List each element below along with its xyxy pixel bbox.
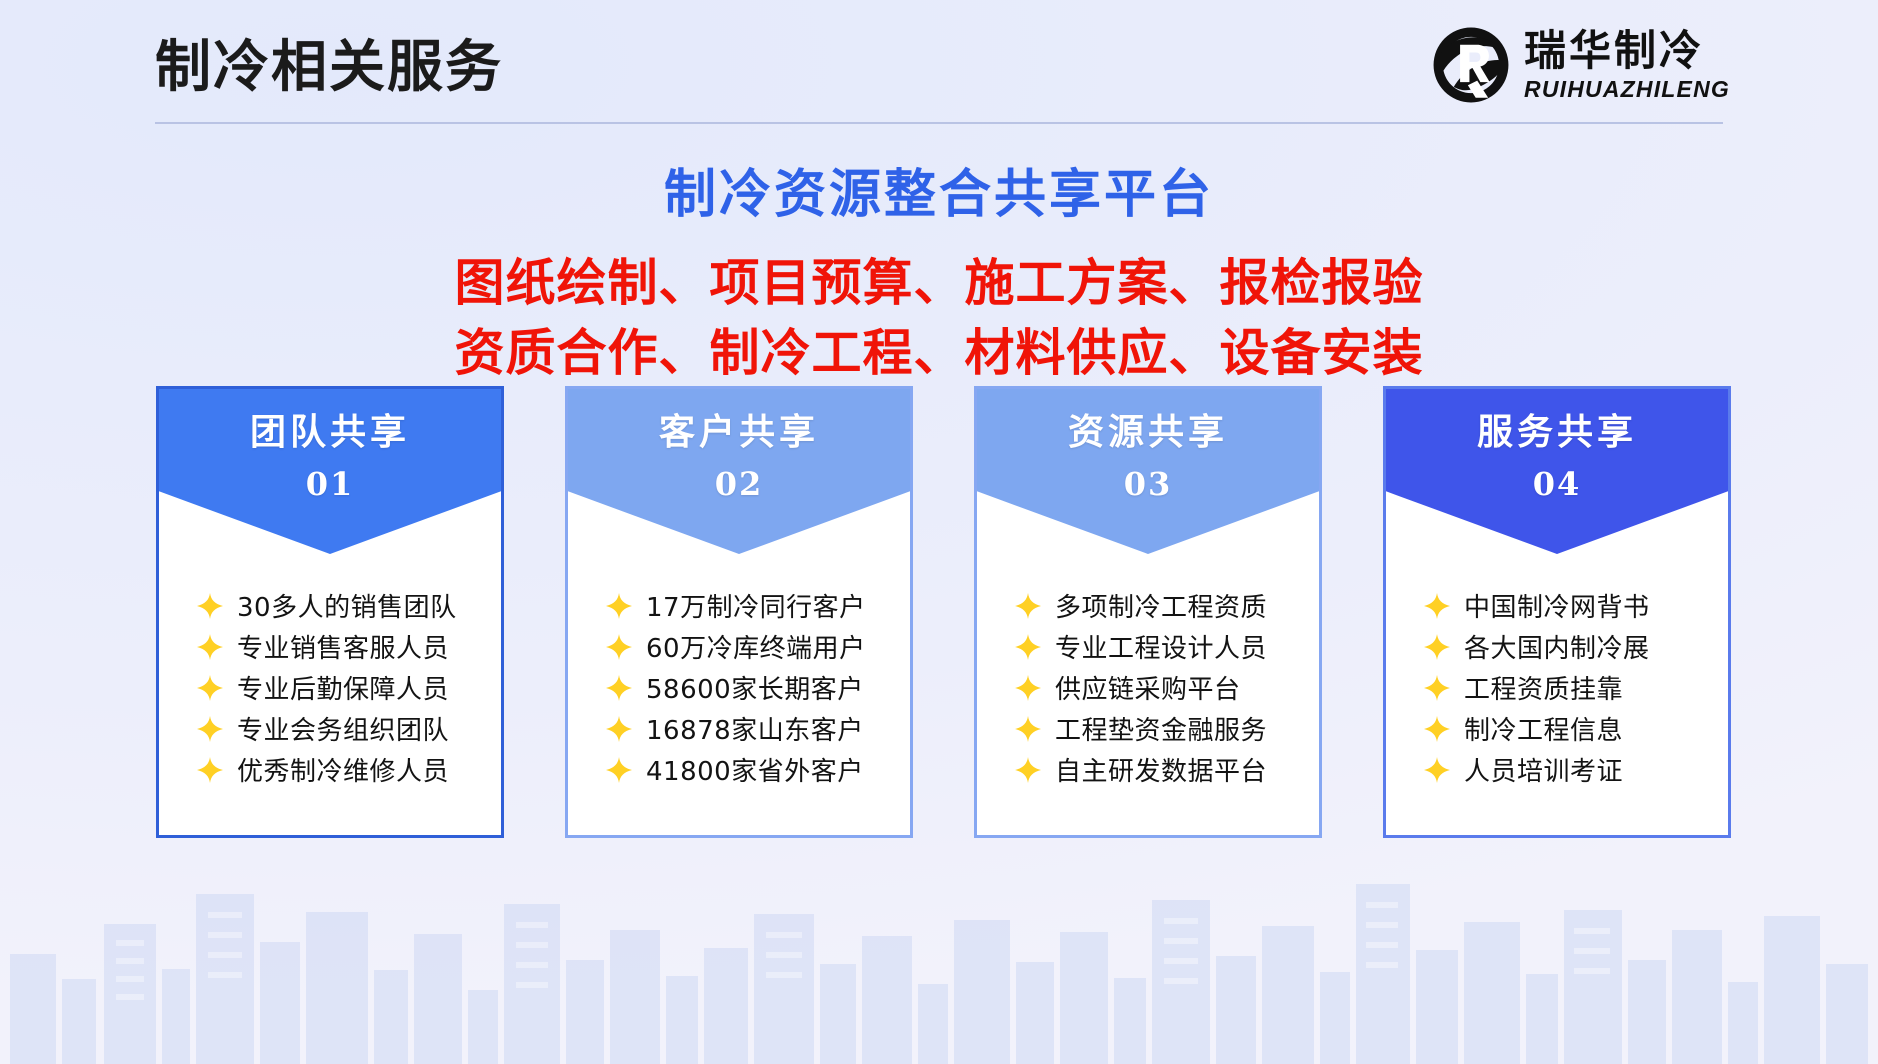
star-bullet-icon: [1424, 757, 1450, 783]
star-bullet-icon: [1015, 675, 1041, 701]
list-item-label: 工程资质挂靠: [1464, 669, 1623, 706]
star-bullet-icon: [1015, 716, 1041, 742]
list-item: 30多人的销售团队: [197, 585, 501, 626]
list-item-label: 专业后勤保障人员: [237, 669, 449, 706]
list-item-label: 16878家山东客户: [646, 710, 864, 747]
star-bullet-icon: [1424, 716, 1450, 742]
card-number: 03: [977, 455, 1319, 503]
card-service-share[interactable]: 服务共享 04 中国制冷网背书 各大国内制冷展 工程资质挂靠: [1383, 386, 1731, 838]
card-header: 团队共享 01: [159, 389, 501, 554]
platform-subtitle: 制冷资源整合共享平台: [0, 152, 1878, 227]
star-bullet-icon: [606, 634, 632, 660]
star-bullet-icon: [606, 593, 632, 619]
card-title: 服务共享: [1386, 389, 1728, 455]
slide-root: 制冷相关服务 瑞华制冷 RUIHUAZHILENG 制冷资源整合共享平台 图纸绘…: [0, 0, 1878, 1064]
list-item-label: 中国制冷网背书: [1464, 587, 1650, 624]
company-logo: 瑞华制冷 RUIHUAZHILENG: [1432, 22, 1730, 108]
card-resource-share[interactable]: 资源共享 03 多项制冷工程资质 专业工程设计人员 供应链采购平台: [974, 386, 1322, 838]
list-item: 各大国内制冷展: [1424, 626, 1728, 667]
star-bullet-icon: [197, 716, 223, 742]
card-team-share[interactable]: 团队共享 01 30多人的销售团队 专业销售客服人员 专业后勤保障人员: [156, 386, 504, 838]
card-number: 04: [1386, 455, 1728, 503]
list-item-label: 优秀制冷维修人员: [237, 751, 449, 788]
list-item: 多项制冷工程资质: [1015, 585, 1319, 626]
list-item: 16878家山东客户: [606, 708, 910, 749]
card-number: 02: [568, 455, 910, 503]
list-item: 工程垫资金融服务: [1015, 708, 1319, 749]
star-bullet-icon: [1424, 675, 1450, 701]
list-item-label: 专业会务组织团队: [237, 710, 449, 747]
list-item-label: 17万制冷同行客户: [646, 587, 866, 624]
star-bullet-icon: [1424, 593, 1450, 619]
header-divider: [155, 122, 1723, 124]
card-customer-share[interactable]: 客户共享 02 17万制冷同行客户 60万冷库终端用户 58600家长期客户: [565, 386, 913, 838]
card-title: 资源共享: [977, 389, 1319, 455]
list-item-label: 各大国内制冷展: [1464, 628, 1650, 665]
services-line-1: 图纸绘制、项目预算、施工方案、报检报验: [0, 243, 1878, 315]
ruihua-r-logo-icon: [1432, 26, 1510, 104]
list-item: 专业工程设计人员: [1015, 626, 1319, 667]
card-feature-list: 17万制冷同行客户 60万冷库终端用户 58600家长期客户 16878家山东客…: [568, 585, 910, 790]
list-item-label: 58600家长期客户: [646, 669, 864, 706]
list-item: 供应链采购平台: [1015, 667, 1319, 708]
list-item: 自主研发数据平台: [1015, 749, 1319, 790]
star-bullet-icon: [1015, 757, 1041, 783]
card-header: 客户共享 02: [568, 389, 910, 554]
list-item: 工程资质挂靠: [1424, 667, 1728, 708]
list-item: 专业会务组织团队: [197, 708, 501, 749]
star-bullet-icon: [606, 757, 632, 783]
list-item-label: 41800家省外客户: [646, 751, 864, 788]
list-item: 专业销售客服人员: [197, 626, 501, 667]
list-item-label: 人员培训考证: [1464, 751, 1623, 788]
card-feature-list: 30多人的销售团队 专业销售客服人员 专业后勤保障人员 专业会务组织团队 优秀制…: [159, 585, 501, 790]
list-item-label: 多项制冷工程资质: [1055, 587, 1267, 624]
star-bullet-icon: [606, 675, 632, 701]
list-item-label: 专业工程设计人员: [1055, 628, 1267, 665]
card-feature-list: 中国制冷网背书 各大国内制冷展 工程资质挂靠 制冷工程信息 人员培训考证: [1386, 585, 1728, 790]
card-title: 客户共享: [568, 389, 910, 455]
list-item: 制冷工程信息: [1424, 708, 1728, 749]
star-bullet-icon: [1015, 634, 1041, 660]
card-header: 资源共享 03: [977, 389, 1319, 554]
star-bullet-icon: [1424, 634, 1450, 660]
star-bullet-icon: [197, 675, 223, 701]
card-title: 团队共享: [159, 389, 501, 455]
list-item: 人员培训考证: [1424, 749, 1728, 790]
list-item: 58600家长期客户: [606, 667, 910, 708]
star-bullet-icon: [1015, 593, 1041, 619]
list-item: 中国制冷网背书: [1424, 585, 1728, 626]
logo-pinyin-name: RUIHUAZHILENG: [1524, 78, 1730, 101]
list-item: 专业后勤保障人员: [197, 667, 501, 708]
star-bullet-icon: [606, 716, 632, 742]
share-cards-row: 团队共享 01 30多人的销售团队 专业销售客服人员 专业后勤保障人员: [0, 386, 1878, 846]
list-item-label: 制冷工程信息: [1464, 710, 1623, 747]
star-bullet-icon: [197, 634, 223, 660]
services-line-2: 资质合作、制冷工程、材料供应、设备安装: [0, 313, 1878, 385]
list-item-label: 30多人的销售团队: [237, 587, 457, 624]
list-item-label: 自主研发数据平台: [1055, 751, 1267, 788]
page-title: 制冷相关服务: [155, 22, 503, 103]
list-item-label: 工程垫资金融服务: [1055, 710, 1267, 747]
list-item: 60万冷库终端用户: [606, 626, 910, 667]
list-item-label: 供应链采购平台: [1055, 669, 1241, 706]
logo-wordmark: 瑞华制冷 RUIHUAZHILENG: [1524, 30, 1730, 101]
card-header: 服务共享 04: [1386, 389, 1728, 554]
list-item: 41800家省外客户: [606, 749, 910, 790]
list-item: 17万制冷同行客户: [606, 585, 910, 626]
card-feature-list: 多项制冷工程资质 专业工程设计人员 供应链采购平台 工程垫资金融服务 自主研发数…: [977, 585, 1319, 790]
list-item-label: 60万冷库终端用户: [646, 628, 866, 665]
card-number: 01: [159, 455, 501, 503]
page-header: 制冷相关服务 瑞华制冷 RUIHUAZHILENG: [0, 0, 1878, 150]
star-bullet-icon: [197, 757, 223, 783]
star-bullet-icon: [197, 593, 223, 619]
logo-chinese-name: 瑞华制冷: [1524, 30, 1730, 72]
list-item: 优秀制冷维修人员: [197, 749, 501, 790]
list-item-label: 专业销售客服人员: [237, 628, 449, 665]
